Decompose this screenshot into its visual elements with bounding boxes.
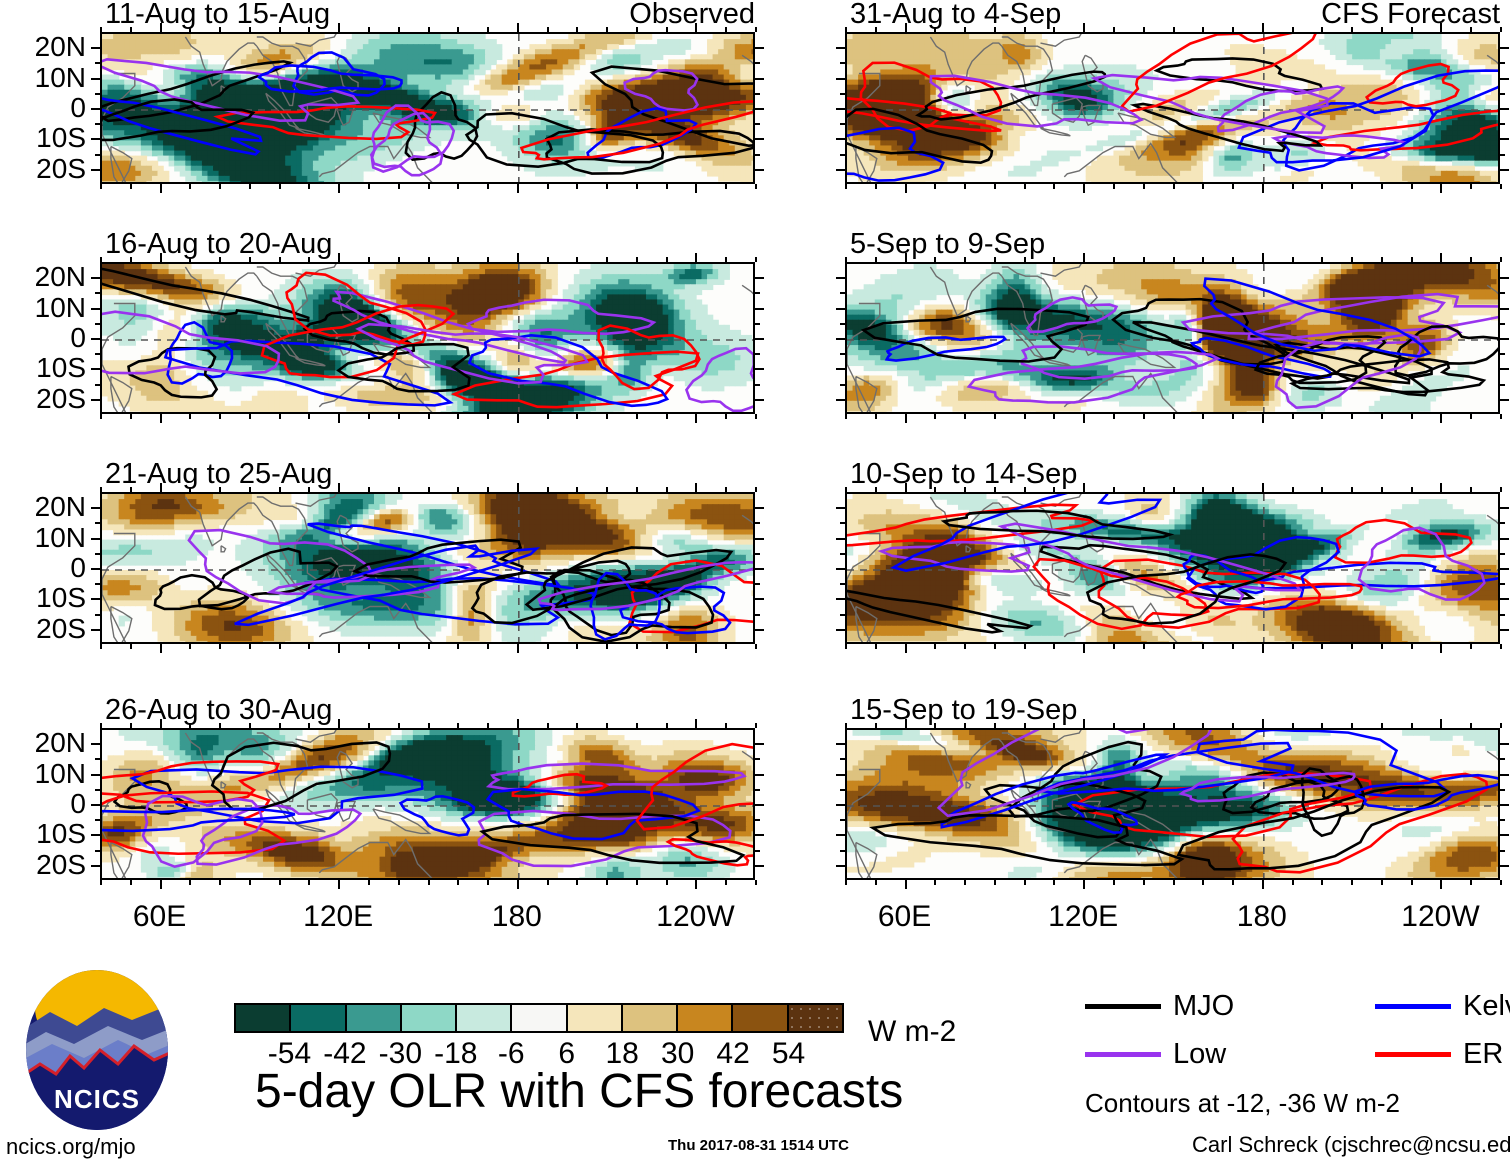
x-tick [219,644,221,649]
x-tick [1173,414,1175,419]
y-tick-right [1500,138,1509,140]
y-axis-label-20S: 20S [4,851,86,879]
x-tick [755,644,757,649]
x-tick-top [1381,257,1383,262]
x-tick [1053,184,1055,189]
x-tick [1440,644,1442,653]
x-tick [1143,184,1145,189]
legend-item-er: ER [1375,1040,1503,1069]
y-tick-right [1500,78,1509,80]
x-tick-top [189,487,191,492]
y-axis-label-10S: 10S [4,354,86,382]
map-panel-r0c1[interactable] [845,32,1500,184]
y-tick-right [755,138,764,140]
x-tick [100,880,102,885]
x-axis-label-120W: 120W [656,902,734,932]
x-tick [1292,414,1294,419]
y-tick-right [755,93,760,95]
x-tick-top [100,257,102,262]
x-tick-top [576,487,578,492]
x-axis-label-180: 180 [492,902,542,932]
map-panel-r3c1[interactable] [845,728,1500,880]
x-tick-top [1113,487,1115,492]
y-tick [836,138,845,140]
map-panel-r3c0[interactable] [100,728,755,880]
x-tick-top [1262,23,1264,32]
y-tick [95,614,100,616]
y-tick [836,507,845,509]
x-tick [934,414,936,419]
x-tick [368,184,370,189]
x-tick [1083,880,1085,889]
x-tick [905,644,907,653]
x-tick [1083,184,1085,193]
main-title: 5-day OLR with CFS forecasts [255,1068,903,1116]
x-tick [576,414,578,419]
x-tick [755,880,757,885]
y-tick-right [755,399,764,401]
y-tick [95,819,100,821]
y-tick [836,743,845,745]
x-tick-top [368,27,370,32]
colorbar-swatch-2 [345,1005,400,1031]
x-tick-top [1321,257,1323,262]
y-tick [840,154,845,156]
x-tick [1411,414,1413,419]
x-tick-top [428,27,430,32]
x-tick [487,880,489,885]
x-tick [189,184,191,189]
x-tick [249,414,251,419]
x-tick [189,644,191,649]
x-tick [1113,644,1115,649]
x-tick [487,184,489,189]
x-tick-top [755,487,757,492]
x-tick [1262,184,1264,193]
x-tick-top [1232,723,1234,728]
x-axis-label-180: 180 [1237,902,1287,932]
x-tick [934,880,936,885]
y-tick [91,538,100,540]
x-tick [576,644,578,649]
x-tick [1500,880,1502,885]
x-tick-top [100,27,102,32]
x-tick-top [130,487,132,492]
y-tick-right [1500,338,1509,340]
y-tick-right [755,538,764,540]
x-tick [100,644,102,649]
panel-title-r3c0: 26-Aug to 30-Aug [105,696,332,725]
x-tick-top [875,27,877,32]
x-tick [189,414,191,419]
x-tick-top [219,257,221,262]
x-tick [547,414,549,419]
y-axis-label-20S: 20S [4,385,86,413]
y-axis-label-20N: 20N [4,729,86,757]
y-tick [91,368,100,370]
y-tick [91,338,100,340]
x-tick-top [875,487,877,492]
x-tick [428,414,430,419]
x-tick [249,644,251,649]
x-tick [576,880,578,885]
x-tick-top [160,483,162,492]
x-tick-top [547,27,549,32]
y-tick-right [755,758,760,760]
x-tick [457,184,459,189]
x-tick-top [994,257,996,262]
x-tick [1143,414,1145,419]
x-tick [130,644,132,649]
x-tick [1500,414,1502,419]
x-tick-top [100,723,102,728]
x-tick [875,644,877,649]
x-tick [1321,184,1323,189]
x-tick [428,184,430,189]
x-tick-top [875,723,877,728]
x-tick [1232,414,1234,419]
x-tick [279,644,281,649]
x-tick-top [249,723,251,728]
x-tick-top [606,723,608,728]
x-tick-top [308,487,310,492]
y-tick [836,538,845,540]
x-tick-top [1173,723,1175,728]
y-tick [91,774,100,776]
y-tick-right [1500,47,1509,49]
y-tick [840,93,845,95]
y-tick-right [1500,583,1505,585]
x-tick [1202,880,1204,885]
x-tick-top [725,257,727,262]
x-tick-top [576,257,578,262]
x-tick [1381,414,1383,419]
y-tick-right [755,553,760,555]
y-tick-right [1500,819,1505,821]
legend-label-er: ER [1463,1040,1503,1069]
legend-swatch-mjo [1085,1004,1161,1009]
x-tick [308,880,310,885]
x-tick-top [1143,487,1145,492]
y-tick [836,308,845,310]
x-tick [338,880,340,889]
x-tick [1083,414,1085,423]
x-tick [160,644,162,653]
map-panel-r0c0[interactable] [100,32,755,184]
y-tick [840,323,845,325]
x-tick [666,880,668,885]
x-tick [1024,414,1026,419]
y-axis-label-10N: 10N [4,524,86,552]
x-tick-top [547,257,549,262]
y-tick-right [755,774,764,776]
panel-title-r0c1: 31-Aug to 4-Sep [850,0,1061,29]
x-tick-top [934,487,936,492]
x-tick [666,184,668,189]
x-tick [130,880,132,885]
x-tick [1440,184,1442,193]
y-tick [836,834,845,836]
y-tick [95,789,100,791]
timestamp: Thu 2017-08-31 1514 UTC [668,1138,849,1153]
x-tick-top [219,27,221,32]
y-tick-right [755,598,764,600]
y-tick [836,169,845,171]
y-tick-right [755,47,764,49]
x-tick [875,414,877,419]
x-tick-top [487,487,489,492]
map-panel-r2c0[interactable] [100,492,755,644]
y-tick-right [1500,553,1505,555]
panel-title-r1c0: 16-Aug to 20-Aug [105,230,332,259]
y-axis-label-20S: 20S [4,615,86,643]
map-panel-r2c1[interactable] [845,492,1500,644]
y-tick-right [1500,614,1505,616]
x-tick [1292,184,1294,189]
x-tick [219,184,221,189]
y-tick-right [755,323,760,325]
legend-label-kelvin-x2: Kelvin x2 [1463,992,1510,1021]
y-tick [91,865,100,867]
y-tick-right [1500,743,1509,745]
y-tick [836,399,845,401]
x-tick-top [725,487,727,492]
x-tick [934,184,936,189]
y-tick [95,353,100,355]
y-tick-right [1500,789,1505,791]
x-tick-top [308,27,310,32]
y-tick-right [755,850,760,852]
x-tick [964,644,966,649]
x-tick-top [308,257,310,262]
contour-note: Contours at -12, -36 W m-2 [1085,1090,1400,1116]
x-tick-top [279,487,281,492]
x-tick-top [666,257,668,262]
y-tick-right [755,614,760,616]
x-tick-top [934,257,936,262]
y-tick-right [1500,538,1509,540]
x-tick [457,644,459,649]
y-tick-right [755,819,760,821]
panel-title-r0c0: 11-Aug to 15-Aug [105,0,330,29]
map-panel-r1c1[interactable] [845,262,1500,414]
x-tick-top [1500,27,1502,32]
y-tick-right [755,169,764,171]
x-tick-top [845,257,847,262]
x-tick [1470,644,1472,649]
x-tick [875,184,877,189]
x-tick [249,880,251,885]
x-tick [428,644,430,649]
x-tick-top [845,27,847,32]
y-tick-right [1500,169,1509,171]
y-tick-right [1500,292,1505,294]
y-tick [840,384,845,386]
y-tick [840,292,845,294]
x-tick [845,414,847,419]
x-tick [994,184,996,189]
y-tick-right [755,789,760,791]
x-tick-top [875,257,877,262]
y-tick-right [755,353,760,355]
panel-title-r2c0: 21-Aug to 25-Aug [105,460,332,489]
colorbar-swatch-8 [676,1005,731,1031]
y-tick-right [1500,308,1509,310]
y-axis-label-10N: 10N [4,294,86,322]
x-tick-top [1440,719,1442,728]
x-tick [606,184,608,189]
x-tick-top [249,257,251,262]
colorbar-swatch-9 [731,1005,786,1031]
y-tick-right [1500,804,1509,806]
x-tick [905,184,907,193]
site-url[interactable]: ncics.org/mjo [6,1136,136,1158]
x-tick-top [517,253,519,262]
x-tick-top [1292,487,1294,492]
x-tick-top [1232,487,1234,492]
x-tick-top [1381,723,1383,728]
x-tick-top [279,723,281,728]
y-tick-right [755,292,760,294]
y-axis-label-20S: 20S [4,155,86,183]
y-tick [836,774,845,776]
x-tick [755,414,757,419]
x-tick [1351,880,1353,885]
x-tick [517,184,519,193]
x-tick [695,880,697,889]
x-tick [1351,414,1353,419]
y-tick-right [1500,93,1505,95]
y-axis-label-10S: 10S [4,820,86,848]
x-tick [606,644,608,649]
x-tick [1262,880,1264,889]
x-tick-top [1500,487,1502,492]
x-tick [398,184,400,189]
y-tick-right [755,865,764,867]
ncics-logo[interactable]: NCICS [22,968,172,1133]
y-tick [95,323,100,325]
x-tick [308,414,310,419]
x-tick [398,644,400,649]
x-tick [1381,880,1383,885]
x-tick [428,880,430,885]
x-tick-top [636,723,638,728]
x-tick [875,880,877,885]
x-tick [1351,184,1353,189]
x-axis-label-60E: 60E [878,902,931,932]
column-header-forecast: CFS Forecast [1200,0,1500,29]
colorbar-units-label: W m-2 [868,1017,956,1047]
x-tick-top [636,257,638,262]
x-tick-top [1262,483,1264,492]
credit-line: Carl Schreck (cjschrec@ncsu.edu) [1192,1134,1510,1156]
x-tick [1143,644,1145,649]
y-tick [840,353,845,355]
x-tick-top [1411,257,1413,262]
x-tick [1470,414,1472,419]
x-axis-label-120W: 120W [1401,902,1479,932]
x-tick [1470,880,1472,885]
x-tick [368,644,370,649]
y-tick-right [1500,568,1509,570]
x-tick [1351,644,1353,649]
x-tick [1440,880,1442,889]
x-tick [636,414,638,419]
colorbar-swatch-6 [566,1005,621,1031]
x-tick-top [368,257,370,262]
x-tick [1173,880,1175,885]
y-tick [95,758,100,760]
x-tick [100,184,102,189]
x-tick [695,414,697,423]
x-tick-top [487,723,489,728]
y-axis-label-20N: 20N [4,33,86,61]
x-tick-top [1053,487,1055,492]
panel-title-r1c1: 5-Sep to 9-Sep [850,230,1045,259]
y-tick-right [1500,865,1509,867]
panel-title-r3c1: 15-Sep to 19-Sep [850,696,1077,725]
y-tick-right [1500,353,1505,355]
y-tick-right [755,108,764,110]
x-tick-top [1381,487,1383,492]
y-tick [836,47,845,49]
x-tick [1232,184,1234,189]
y-axis-label-20N: 20N [4,493,86,521]
y-axis-label-0: 0 [4,554,86,582]
x-tick-top [517,483,519,492]
y-tick [836,568,845,570]
x-tick-top [338,719,340,728]
map-panel-r1c0[interactable] [100,262,755,414]
x-tick [1411,184,1413,189]
colorbar-swatch-0 [236,1005,289,1031]
x-tick [666,414,668,419]
x-axis-label-60E: 60E [133,902,186,932]
x-tick [1321,644,1323,649]
x-tick [338,184,340,193]
x-tick-top [100,487,102,492]
x-tick-top [1500,723,1502,728]
y-tick [91,743,100,745]
x-tick-top [189,723,191,728]
x-tick [398,880,400,885]
y-axis-label-0: 0 [4,790,86,818]
legend-swatch-er [1375,1052,1451,1057]
x-tick-top [547,487,549,492]
x-tick [517,644,519,653]
x-tick [457,880,459,885]
x-tick-top [1292,27,1294,32]
x-tick [725,414,727,419]
x-tick [1024,184,1026,189]
y-tick [95,583,100,585]
x-tick [338,414,340,423]
x-tick-top [1024,487,1026,492]
y-tick [836,108,845,110]
y-tick [840,758,845,760]
x-tick-top [1351,487,1353,492]
x-tick-top [1053,723,1055,728]
y-tick-right [1500,834,1509,836]
legend-label-mjo: MJO [1173,992,1234,1021]
x-tick-top [845,487,847,492]
x-tick [964,880,966,885]
x-tick-top [725,27,727,32]
x-tick-top [1440,253,1442,262]
x-tick [368,880,370,885]
x-tick [994,644,996,649]
x-tick-top [1202,723,1204,728]
